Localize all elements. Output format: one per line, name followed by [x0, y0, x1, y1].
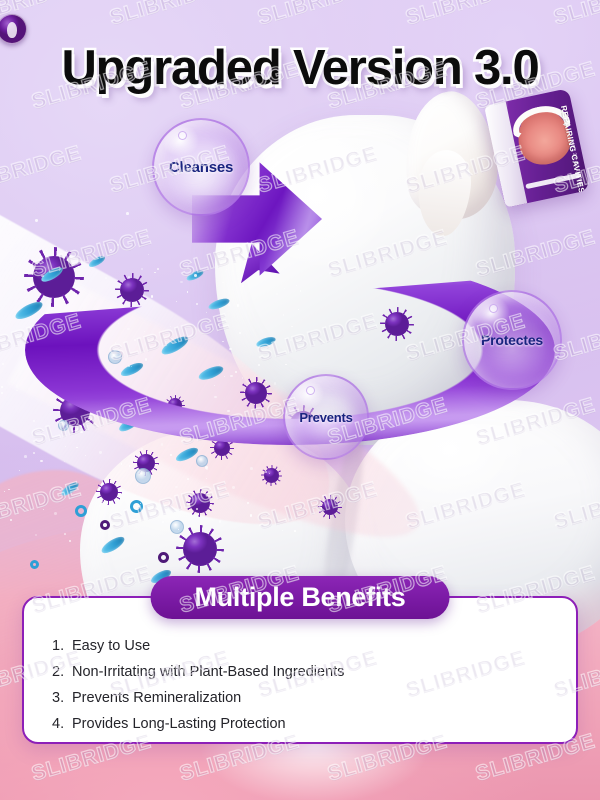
sparkle-dot [126, 212, 129, 215]
sparkle-dot [187, 478, 189, 480]
sparkle-dot [19, 470, 20, 471]
cell-icon [196, 455, 208, 467]
bubble-prevents-label: Prevents [299, 410, 352, 425]
sparkle-dot [175, 486, 178, 489]
bubble-cleanses: Cleanses [152, 118, 250, 216]
bacteria-ring-icon [30, 560, 39, 569]
bubble-highlight-dot [306, 386, 315, 395]
sparkle-dot [247, 502, 248, 503]
benefits-list: 1.Easy to Use2.Non-Irritating with Plant… [52, 638, 558, 742]
benefit-item: 1.Easy to Use [52, 638, 558, 654]
sparkle-dot [9, 223, 11, 225]
bubble-protects-label: Protectes [481, 332, 543, 348]
sparkle-dot [250, 467, 253, 470]
benefit-text: Provides Long-Lasting Protection [72, 716, 286, 732]
sparkle-dot [8, 489, 9, 490]
sparkle-dot [205, 466, 207, 468]
product-tube: REPAIRING CAVITIES NET 3.5 OZ 100 mL [484, 88, 590, 208]
bacteria-ring-icon [130, 500, 143, 513]
sparkle-dot [4, 491, 5, 492]
sparkle-dot [13, 260, 14, 261]
sparkle-dot [110, 249, 112, 251]
benefit-item: 3.Prevents Remineralization [52, 690, 558, 706]
germ-icon [183, 532, 217, 566]
sparkle-dot [121, 463, 123, 465]
sparkle-dot [65, 446, 66, 447]
benefits-card: Multiple Benefits 1.Easy to Use2.Non-Irr… [22, 596, 578, 744]
sparkle-dot [64, 533, 66, 535]
benefit-text: Easy to Use [72, 638, 150, 654]
sparkle-dot [232, 486, 234, 488]
sparkle-dot [103, 244, 105, 246]
benefit-number: 2. [52, 664, 68, 680]
germ-icon [100, 483, 118, 501]
watermark-text: SLIBRIDGE [255, 0, 380, 31]
sparkle-dot [35, 219, 37, 221]
bacteria-ring-icon [158, 552, 169, 563]
sparkle-dot [250, 514, 252, 516]
watermark-text: SLIBRIDGE [403, 0, 528, 31]
bacteria-ring-icon [100, 520, 110, 530]
sparkle-dot [289, 518, 291, 520]
watermark-text: SLIBRIDGE [551, 0, 600, 31]
sparkle-dot [24, 455, 27, 458]
bacteria-ring-icon [75, 505, 87, 517]
bubble-highlight-dot [178, 131, 187, 140]
bubble-highlight-dot [489, 304, 498, 313]
bubble-protects: Protectes [462, 290, 562, 390]
cell-icon [170, 520, 184, 534]
benefit-number: 4. [52, 716, 68, 732]
sparkle-dot [66, 250, 67, 251]
germ-icon [190, 493, 210, 513]
sparkle-dot [54, 512, 57, 515]
sparkle-dot [33, 452, 35, 454]
sparkle-dot [113, 481, 114, 482]
cell-icon [135, 468, 151, 484]
watermark-text: SLIBRIDGE [0, 141, 84, 198]
sparkle-dot [217, 487, 218, 488]
tube-stripe [525, 173, 581, 190]
sparkle-dot [35, 534, 37, 536]
sparkle-dot [132, 519, 134, 521]
watermark-text: SLIBRIDGE [107, 0, 232, 31]
sparkle-dot [117, 244, 119, 246]
bubble-prevents: Prevents [283, 374, 369, 460]
benefits-banner-title: Multiple Benefits [151, 576, 450, 619]
bubble-cleanses-label: Cleanses [169, 159, 233, 176]
sparkle-dot [99, 451, 101, 453]
page-title: Upgraded Version 3.0 [0, 40, 600, 96]
sparkle-dot [294, 530, 296, 532]
benefit-number: 3. [52, 690, 68, 706]
benefit-number: 1. [52, 638, 68, 654]
germ-icon [322, 499, 338, 515]
benefit-item: 2.Non-Irritating with Plant-Based Ingred… [52, 664, 558, 680]
benefit-text: Prevents Remineralization [72, 690, 241, 706]
benefit-item: 4.Provides Long-Lasting Protection [52, 716, 558, 732]
sparkle-dot [1, 392, 3, 394]
product-poster: REPAIRING CAVITIES NET 3.5 OZ 100 mL Cle… [0, 0, 600, 800]
sparkle-dot [40, 460, 42, 462]
sparkle-dot [219, 520, 221, 522]
benefit-text: Non-Irritating with Plant-Based Ingredie… [72, 664, 344, 680]
